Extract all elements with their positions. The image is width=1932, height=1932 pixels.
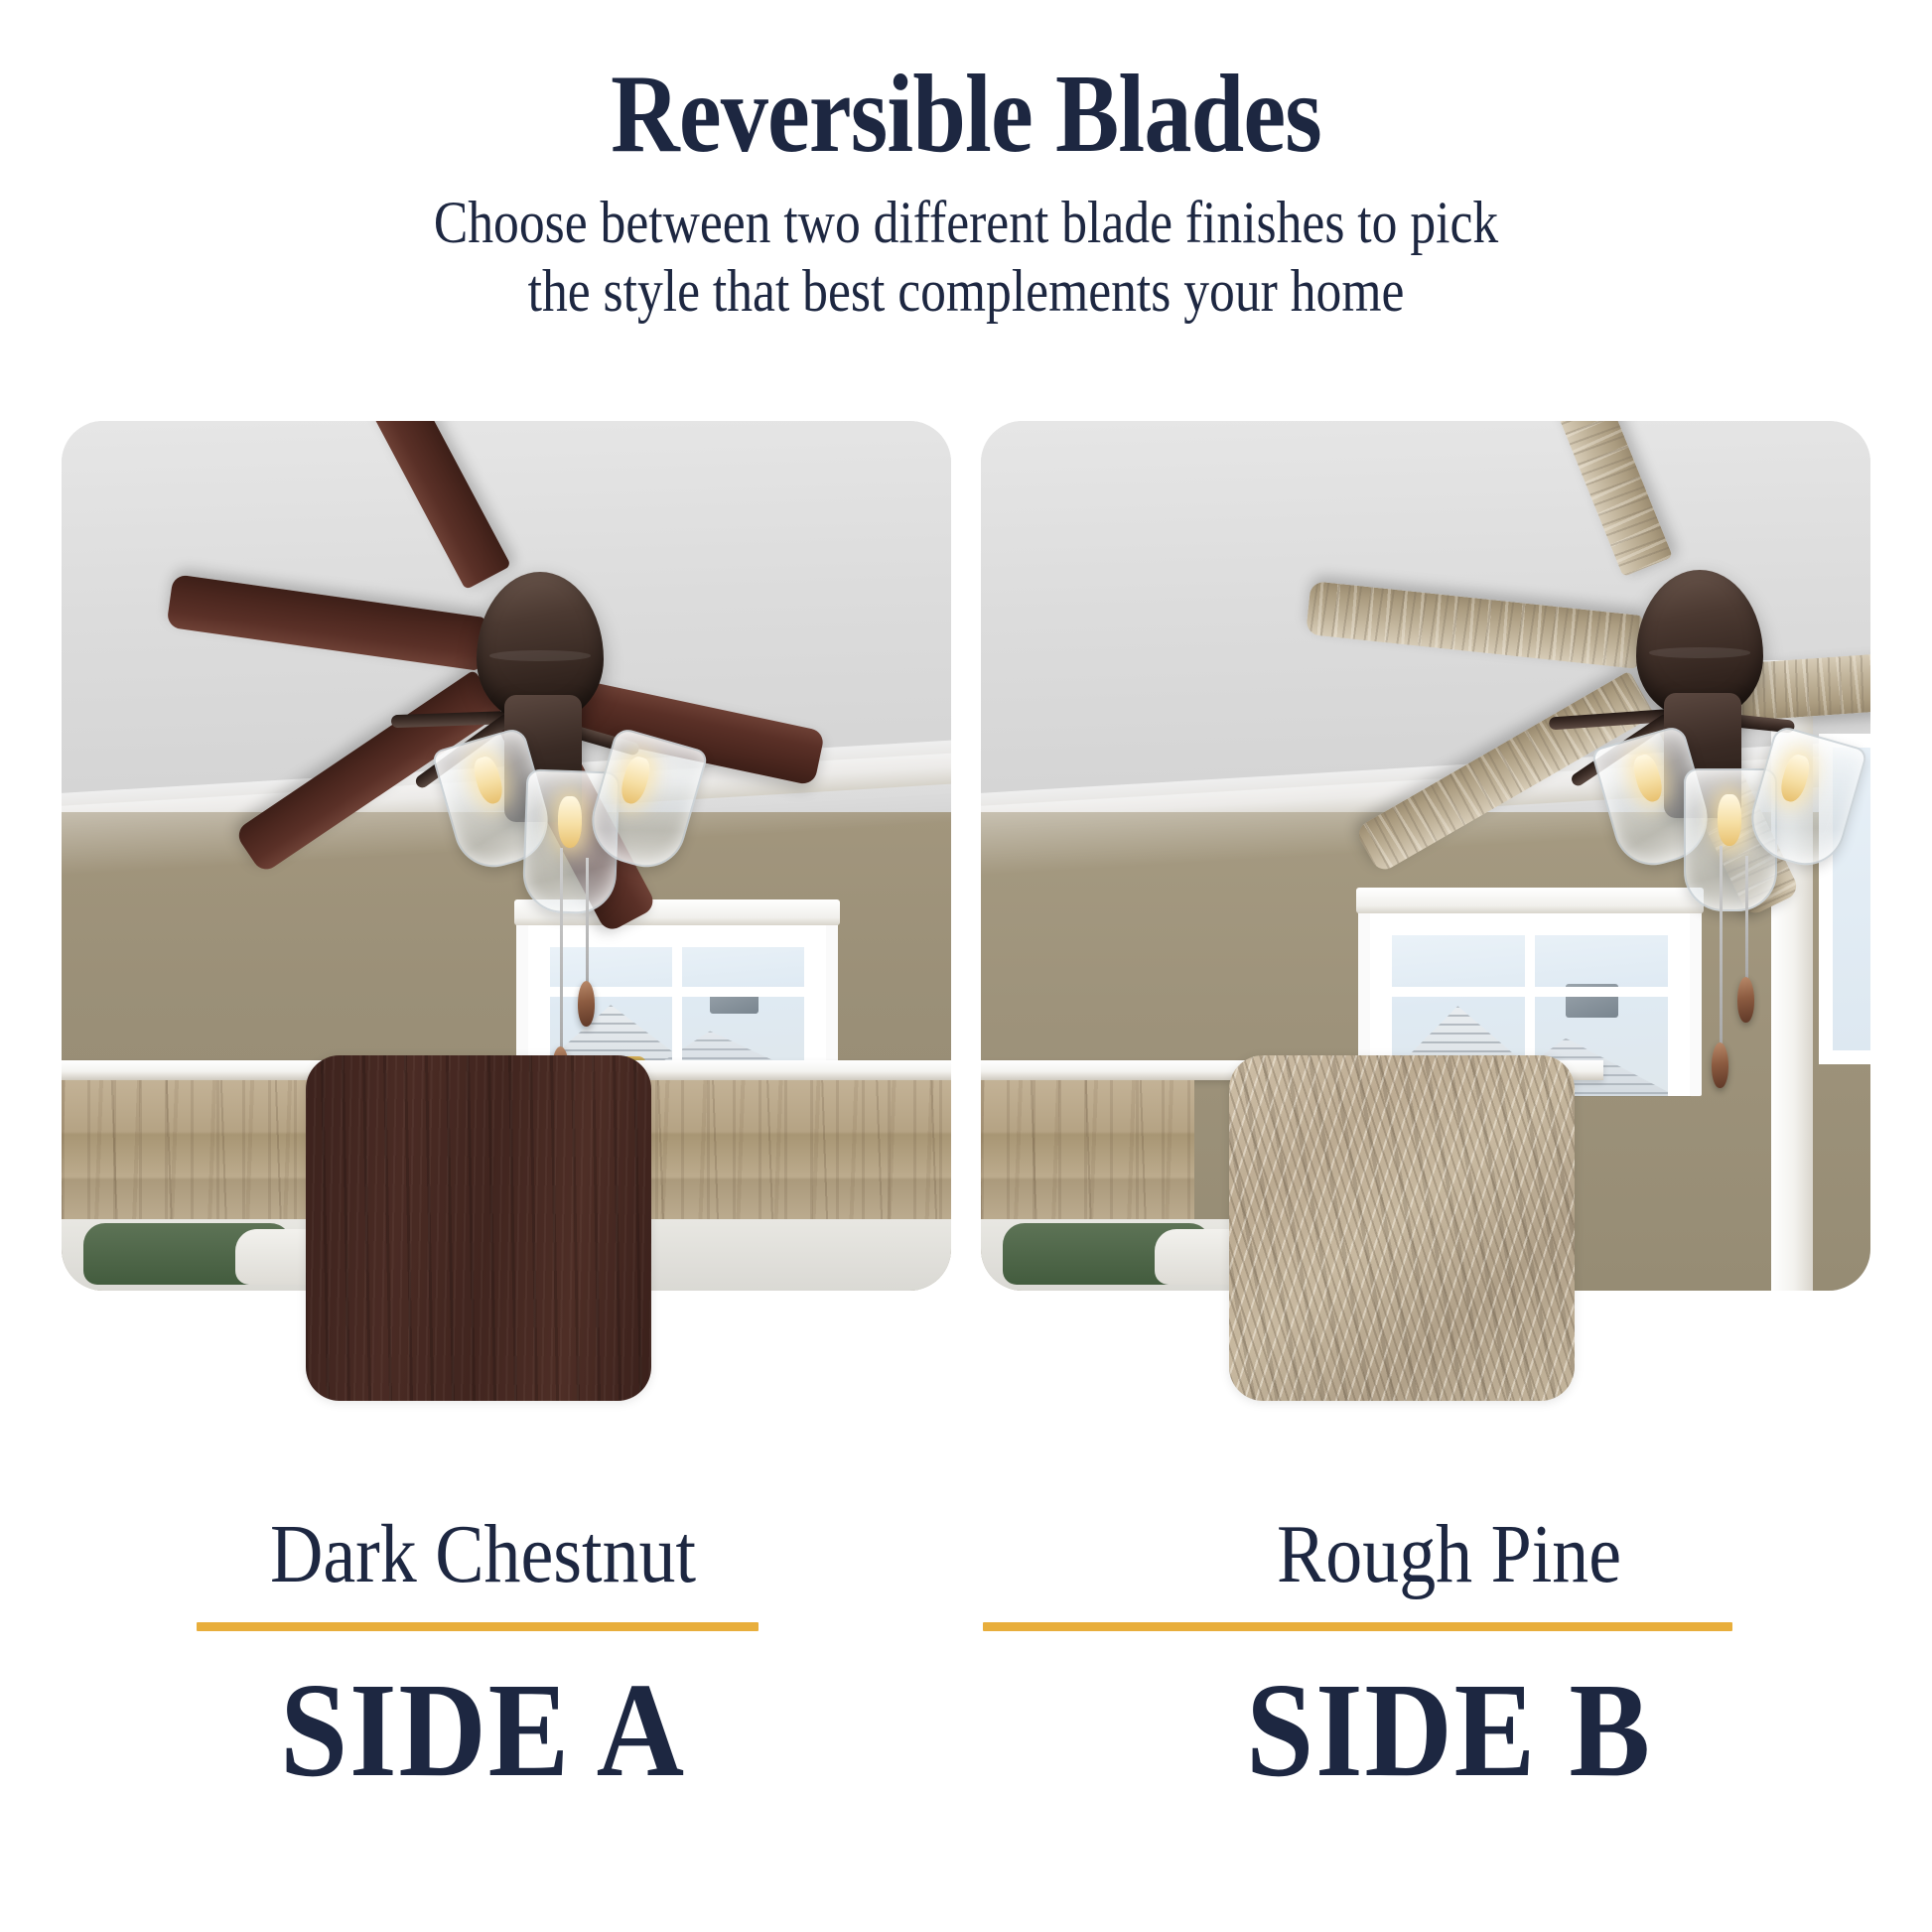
page-subtitle: Choose between two different blade finis… [135,189,1797,325]
header: Reversible Blades Choose between two dif… [0,0,1932,325]
page-title: Reversible Blades [135,58,1797,171]
side-label-a: SIDE A [49,1659,918,1802]
dark-chestnut-swatch[interactable] [306,1055,651,1401]
finish-name-side-b: Rough Pine [1024,1509,1873,1600]
gold-divider-side-b [983,1622,1732,1631]
pull-chain[interactable] [560,848,563,1052]
gold-divider-side-a [197,1622,759,1631]
pull-chain[interactable] [1745,856,1748,983]
finish-labels: Dark Chestnut SIDE A Rough Pine SIDE B [0,1509,1932,1803]
fan-blade [1518,421,1673,577]
light-bulb [558,796,582,848]
pull-chain[interactable] [1720,846,1723,1048]
pull-chain-finial[interactable] [1712,1042,1728,1088]
pull-chain-finial[interactable] [1737,977,1754,1023]
pull-chain-finial[interactable] [578,981,595,1027]
light-bulb [1718,794,1741,846]
finish-label-side-a: Dark Chestnut SIDE A [0,1509,966,1803]
rough-pine-swatch[interactable] [1229,1055,1575,1401]
finish-label-side-b: Rough Pine SIDE B [966,1509,1932,1803]
fan-blade [326,421,511,590]
pull-chain[interactable] [586,858,589,987]
finish-name-side-a: Dark Chestnut [58,1509,907,1600]
fan-blade [1306,581,1643,669]
fan-blade [166,574,485,671]
side-label-b: SIDE B [1015,1659,1884,1802]
